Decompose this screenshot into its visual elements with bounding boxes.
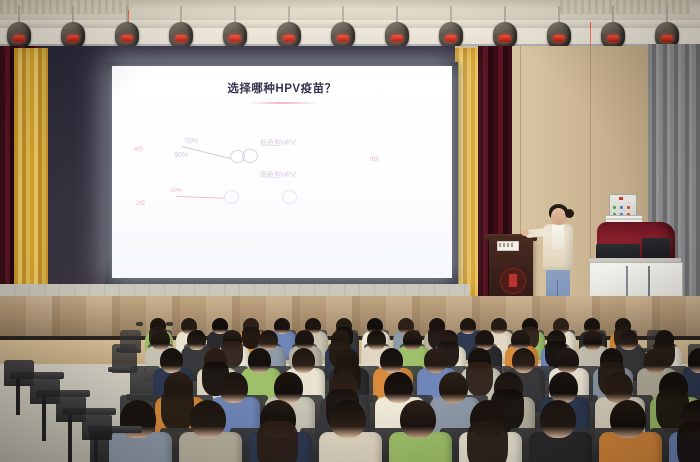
projection-screen[interactable]: 选择哪种HPV疫苗？ 4价70%90%低危型HPV:高危型HPV:9价70%2价 [112, 66, 452, 278]
desk-leg [68, 415, 72, 462]
control-panel-led [619, 197, 623, 200]
ceiling-slat [560, 0, 690, 14]
slide-annotation: 90% [174, 152, 188, 159]
gold-curtain-left [14, 48, 48, 298]
podium-emblem-icon [500, 268, 526, 294]
audience-head [512, 348, 535, 373]
speaker-hand [521, 229, 529, 236]
control-button[interactable] [613, 206, 616, 209]
audience-head [511, 330, 530, 350]
ink-line [176, 196, 224, 199]
audience-head [292, 348, 315, 373]
slide-annotation: 70% [184, 138, 198, 145]
slide-annotation: 高危型HPV: [260, 170, 297, 180]
audience-head [187, 330, 206, 350]
audience-head [556, 348, 579, 373]
ink-circle [242, 149, 258, 163]
ink-circle [282, 190, 297, 204]
audience-head [259, 330, 278, 350]
audience-head [380, 348, 403, 373]
audience-head [274, 318, 290, 334]
ink-circle [224, 190, 239, 204]
slide-annotation: 低危型HPV: [260, 138, 297, 148]
audience-head [248, 348, 271, 373]
audience-head [274, 372, 303, 403]
slide-annotation: 2价 [136, 198, 145, 207]
control-button[interactable] [627, 206, 630, 209]
stage-object [166, 322, 173, 326]
audience-head [619, 330, 638, 350]
ink-line [182, 146, 231, 159]
audience-head [219, 372, 248, 403]
audience-head [540, 400, 576, 438]
audience-head [439, 372, 468, 403]
audience-head [549, 372, 578, 403]
slide-title: 选择哪种HPV疫苗？ [112, 80, 452, 96]
audience-head [491, 318, 507, 334]
slide-annotation: 4价 [134, 144, 143, 153]
stage-object [136, 322, 143, 326]
speaker-head [551, 208, 566, 225]
audience-head [424, 348, 447, 373]
audience-hair [466, 362, 492, 396]
audience-head [610, 400, 646, 438]
slide-annotation: 70% [170, 188, 182, 194]
audience-head [475, 330, 494, 350]
audience-head [604, 372, 633, 403]
speaker-hair-bun [565, 209, 574, 218]
audience-head [644, 348, 667, 373]
audience-head [330, 400, 366, 438]
title-underline [246, 102, 320, 104]
nameplate-text [499, 243, 515, 247]
audience-head [367, 330, 386, 350]
control-button[interactable] [620, 206, 623, 209]
audience-hair [677, 421, 700, 462]
slide-annotation: 9价 [370, 154, 379, 163]
audience-head [583, 330, 602, 350]
audience-head [151, 330, 170, 350]
audience-head [400, 400, 436, 438]
seat [82, 414, 112, 440]
audience-head [688, 348, 700, 373]
audience-head [403, 330, 422, 350]
audience-hair [257, 421, 298, 462]
audience-head [295, 330, 314, 350]
audience-head [384, 372, 413, 403]
audience-head [190, 400, 226, 438]
audience-hair [467, 421, 508, 462]
audience-head [160, 348, 183, 373]
speaker-shirt [552, 225, 564, 249]
lecture-hall-photo: 选择哪种HPV疫苗？ 4价70%90%低危型HPV:高危型HPV:9价70%2价 [0, 0, 700, 462]
audience-head [460, 318, 476, 334]
